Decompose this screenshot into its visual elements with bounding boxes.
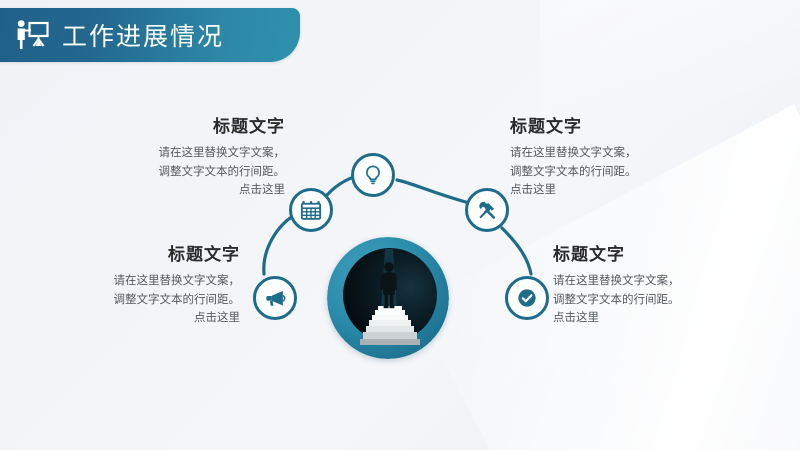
text-block-title: 标题文字 <box>553 240 783 265</box>
lightbulb-icon <box>362 164 384 186</box>
text-line-1: 请在这里替换文字文案， <box>10 271 240 290</box>
text-line-1: 请在这里替换文字文案， <box>55 143 285 162</box>
megaphone-icon <box>264 287 286 309</box>
text-line-1: 请在这里替换文字文案， <box>553 271 783 290</box>
arc-tools-check <box>502 228 531 274</box>
node-calendar[interactable] <box>289 188 333 232</box>
page-title: 工作进展情况 <box>62 17 224 53</box>
connector-arcs <box>0 0 800 450</box>
presenter-board-icon <box>14 18 50 52</box>
text-block-top-right[interactable]: 标题文字 请在这里替换文字文案， 调整文字文本的行间距。 点击这里 <box>510 112 740 199</box>
text-line-2: 调整文字文本的行间距。 <box>510 162 740 181</box>
text-line-1: 请在这里替换文字文案， <box>510 143 740 162</box>
text-block-body: 请在这里替换文字文案， 调整文字文本的行间距。 点击这里 <box>553 271 783 327</box>
text-block-title: 标题文字 <box>510 112 740 137</box>
text-line-3: 点击这里 <box>510 180 740 199</box>
text-block-top-left[interactable]: 标题文字 请在这里替换文字文案， 调整文字文本的行间距。 点击这里 <box>55 112 285 199</box>
text-line-2: 调整文字文本的行间距。 <box>55 162 285 181</box>
tools-icon <box>476 199 498 221</box>
text-line-2: 调整文字文本的行间距。 <box>553 290 783 309</box>
center-photo-illustration <box>327 237 449 359</box>
text-line-3: 点击这里 <box>10 308 240 327</box>
slide-canvas: 工作进展情况 <box>0 0 800 450</box>
header-banner: 工作进展情况 <box>0 8 300 62</box>
text-line-2: 调整文字文本的行间距。 <box>10 290 240 309</box>
node-megaphone[interactable] <box>253 276 297 320</box>
text-line-3: 点击这里 <box>553 308 783 327</box>
text-block-body: 请在这里替换文字文案， 调整文字文本的行间距。 点击这里 <box>55 143 285 199</box>
arc-bulb-tools <box>397 180 469 203</box>
node-check[interactable] <box>505 276 549 320</box>
node-lightbulb[interactable] <box>351 153 395 197</box>
arc-megaphone-calendar <box>264 214 296 274</box>
text-block-bottom-right[interactable]: 标题文字 请在这里替换文字文案， 调整文字文本的行间距。 点击这里 <box>553 240 783 327</box>
text-line-3: 点击这里 <box>55 180 285 199</box>
text-block-title: 标题文字 <box>55 112 285 137</box>
text-block-title: 标题文字 <box>10 240 240 265</box>
text-block-bottom-left[interactable]: 标题文字 请在这里替换文字文案， 调整文字文本的行间距。 点击这里 <box>10 240 240 327</box>
text-block-body: 请在这里替换文字文案， 调整文字文本的行间距。 点击这里 <box>10 271 240 327</box>
text-block-body: 请在这里替换文字文案， 调整文字文本的行间距。 点击这里 <box>510 143 740 199</box>
node-tools[interactable] <box>465 188 509 232</box>
center-photo[interactable] <box>327 237 449 359</box>
calendar-icon <box>300 199 322 221</box>
check-circle-icon <box>516 287 538 309</box>
